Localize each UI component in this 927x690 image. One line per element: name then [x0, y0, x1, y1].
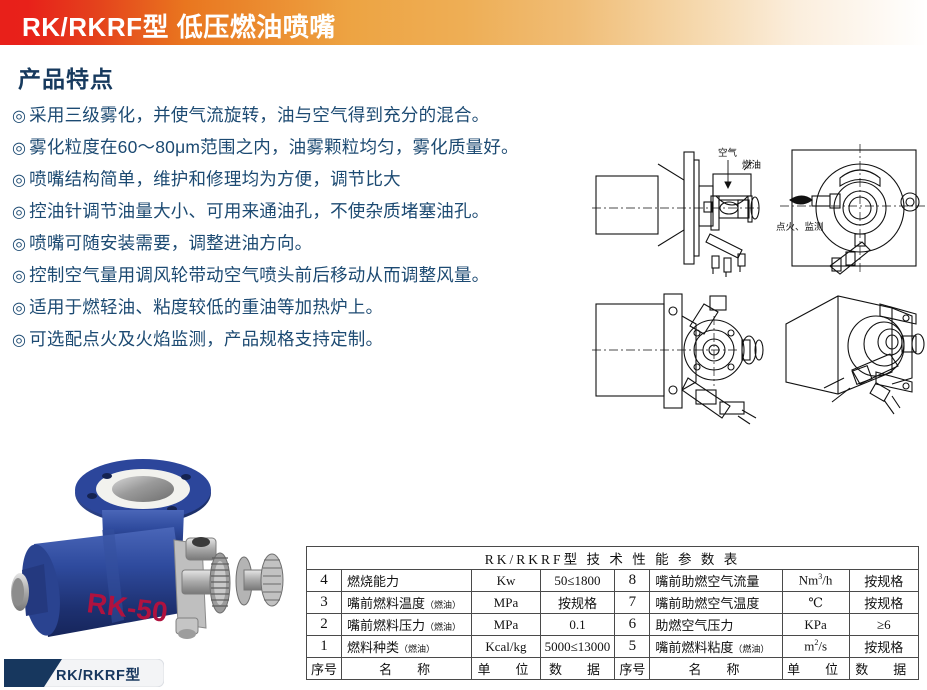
cell-name-2: 嘴前助燃空气温度 — [650, 592, 782, 614]
feature-text: 雾化粒度在60～80μm范围之内，油雾颗粒均匀，雾化质量好。 — [29, 137, 519, 157]
cell-no-2: 8 — [615, 570, 650, 592]
badge-label: RK/RKRF型 — [56, 664, 141, 685]
feature-item: ◎控制空气量用调风轮带动空气喷头前后移动从而调整风量。 — [0, 260, 586, 292]
cell-unit-2: Nm3/h — [782, 570, 849, 592]
drawing-label-ignition: 点火、监测 — [776, 221, 824, 233]
page-title: RK/RKRF型 低压燃油喷嘴 — [22, 7, 336, 44]
bullet-icon: ◎ — [12, 140, 26, 157]
drawing-side-section: 空气 燃油 — [592, 138, 762, 278]
features-section: 产品特点 ◎采用三级雾化，并使气流旋转，油与空气得到充分的混合。 ◎雾化粒度在6… — [0, 60, 586, 356]
bullet-icon: ◎ — [12, 172, 26, 189]
product-datasheet-page: RK/RKRF型 低压燃油喷嘴 产品特点 ◎采用三级雾化，并使气流旋转，油与空气… — [0, 0, 927, 690]
cell-name-sub: （燃油） — [425, 600, 461, 610]
cell-name: 嘴前燃料压力（燃油） — [341, 614, 471, 636]
feature-item: ◎采用三级雾化，并使气流旋转，油与空气得到充分的混合。 — [0, 100, 586, 132]
cell-name2-text: 嘴前助燃空气流量 — [655, 574, 759, 589]
features-list: ◎采用三级雾化，并使气流旋转，油与空气得到充分的混合。 ◎雾化粒度在60～80μ… — [0, 100, 586, 356]
cell-name2-text: 助燃空气压力 — [655, 618, 733, 633]
cell-unit: Kcal/kg — [472, 636, 540, 658]
table-row: 3 嘴前燃料温度（燃油） MPa 按规格 7 嘴前助燃空气温度 ℃ 按规格 — [307, 592, 919, 614]
cell-name-2: 嘴前助燃空气流量 — [650, 570, 782, 592]
feature-item: ◎喷嘴可随安装需要，调整进油方向。 — [0, 228, 586, 260]
drawing-label-fuel: 燃油 — [742, 159, 761, 171]
cell-unit: MPa — [472, 614, 540, 636]
cell-data: 5000≤13000 — [540, 636, 615, 658]
cell-unit: MPa — [472, 592, 540, 614]
bullet-icon: ◎ — [12, 236, 26, 253]
feature-text: 控油针调节油量大小、可用来通油孔，不使杂质堵塞油孔。 — [29, 201, 489, 221]
footer-badge: RK/RKRF型 — [4, 659, 164, 687]
bullet-icon: ◎ — [12, 300, 26, 317]
parameter-table: RK/RKRF型 技 术 性 能 参 数 表 4 燃烧能力 Kw 50≤1800… — [306, 546, 919, 680]
table-row: 2 嘴前燃料压力（燃油） MPa 0.1 6 助燃空气压力 KPa ≥6 — [307, 614, 919, 636]
cell-no: 1 — [307, 636, 342, 658]
feature-text: 控制空气量用调风轮带动空气喷头前后移动从而调整风量。 — [29, 265, 489, 285]
cell-name-text: 嘴前燃料温度 — [347, 596, 425, 611]
cell-data-2: 按规格 — [849, 570, 918, 592]
cell-no-2: 5 — [615, 636, 650, 658]
cell-name-sub: （燃油） — [399, 644, 435, 654]
cell-name-2: 助燃空气压力 — [650, 614, 782, 636]
feature-text: 采用三级雾化，并使气流旋转，油与空气得到充分的混合。 — [29, 105, 489, 125]
bullet-icon: ◎ — [12, 332, 26, 349]
footer-no: 序号 — [307, 658, 342, 680]
footer-unit-2: 单 位 — [782, 658, 849, 680]
product-photo: RK-50 — [6, 452, 298, 657]
footer-unit: 单 位 — [472, 658, 540, 680]
bullet-icon: ◎ — [12, 204, 26, 221]
table-footer-row: 序号 名 称 单 位 数 据 序号 名 称 单 位 数 据 — [307, 658, 919, 680]
footer-no-2: 序号 — [615, 658, 650, 680]
cell-unit: Kw — [472, 570, 540, 592]
bullet-icon: ◎ — [12, 108, 26, 125]
cell-data: 50≤1800 — [540, 570, 615, 592]
cell-unit-2: ℃ — [782, 592, 849, 614]
cell-data: 按规格 — [540, 592, 615, 614]
feature-item: ◎适用于燃轻油、粘度较低的重油等加热炉上。 — [0, 292, 586, 324]
feature-text: 喷嘴可随安装需要，调整进油方向。 — [29, 233, 312, 253]
cell-name2-text: 嘴前燃料粘度 — [655, 640, 733, 655]
drawing-isometric-view — [780, 286, 927, 434]
cell-no: 4 — [307, 570, 342, 592]
cell-unit-2: KPa — [782, 614, 849, 636]
cell-no-2: 6 — [615, 614, 650, 636]
feature-item: ◎雾化粒度在60～80μm范围之内，油雾颗粒均匀，雾化质量好。 — [0, 132, 586, 164]
cell-no: 2 — [307, 614, 342, 636]
feature-text: 可选配点火及火焰监测，产品规格支持定制。 — [29, 329, 383, 349]
cell-data: 0.1 — [540, 614, 615, 636]
cell-data-2: 按规格 — [849, 636, 918, 658]
drawing-assembly-side — [592, 286, 767, 434]
features-heading: 产品特点 — [18, 60, 586, 94]
cell-name-text: 嘴前燃料压力 — [347, 618, 425, 633]
feature-item: ◎控油针调节油量大小、可用来通油孔，不使杂质堵塞油孔。 — [0, 196, 586, 228]
footer-name-2: 名 称 — [650, 658, 782, 680]
table-title-row: RK/RKRF型 技 术 性 能 参 数 表 — [307, 547, 919, 570]
cell-name2-sub: （燃油） — [733, 644, 769, 654]
table-title: RK/RKRF型 技 术 性 能 参 数 表 — [307, 547, 919, 570]
cell-unit-2: m2/s — [782, 636, 849, 658]
cell-no-2: 7 — [615, 592, 650, 614]
cell-name: 燃烧能力 — [341, 570, 471, 592]
table-row: 1 燃料种类（燃油） Kcal/kg 5000≤13000 5 嘴前燃料粘度（燃… — [307, 636, 919, 658]
footer-name: 名 称 — [341, 658, 471, 680]
cell-name-text: 燃料种类 — [347, 640, 399, 655]
cell-name: 嘴前燃料温度（燃油） — [341, 592, 471, 614]
technical-drawings: 空气 燃油 — [592, 138, 927, 434]
feature-item: ◎可选配点火及火焰监测，产品规格支持定制。 — [0, 324, 586, 356]
bullet-icon: ◎ — [12, 268, 26, 285]
cell-data-2: 按规格 — [849, 592, 918, 614]
feature-text: 喷嘴结构简单，维护和修理均为方便，调节比大 — [29, 169, 401, 189]
footer-data-2: 数 据 — [849, 658, 918, 680]
cell-name-2: 嘴前燃料粘度（燃油） — [650, 636, 782, 658]
cell-name-sub: （燃油） — [425, 622, 461, 632]
cell-data-2: ≥6 — [849, 614, 918, 636]
header-banner: RK/RKRF型 低压燃油喷嘴 — [0, 0, 927, 45]
cell-name-text: 燃烧能力 — [347, 574, 399, 589]
drawing-label-air: 空气 — [718, 147, 738, 159]
feature-text: 适用于燃轻油、粘度较低的重油等加热炉上。 — [29, 297, 383, 317]
footer-data: 数 据 — [540, 658, 615, 680]
cell-no: 3 — [307, 592, 342, 614]
table-row: 4 燃烧能力 Kw 50≤1800 8 嘴前助燃空气流量 Nm3/h 按规格 — [307, 570, 919, 592]
cell-name: 燃料种类（燃油） — [341, 636, 471, 658]
feature-item: ◎喷嘴结构简单，维护和修理均为方便，调节比大 — [0, 164, 586, 196]
cell-name2-text: 嘴前助燃空气温度 — [655, 596, 759, 611]
adjustment-assembly — [174, 537, 283, 639]
drawing-front-view: 点火、监测 — [770, 138, 927, 278]
